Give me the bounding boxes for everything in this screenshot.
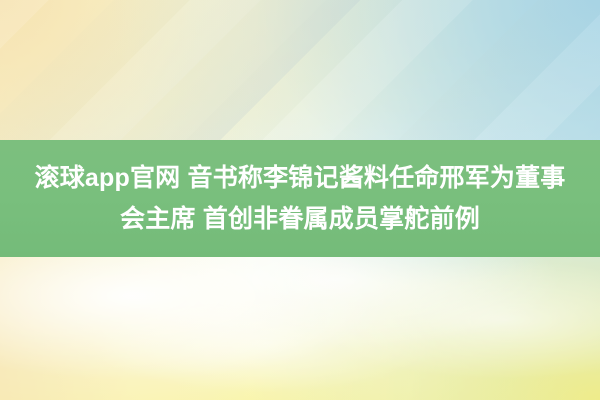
title-band: 滚球app官网 音书称李锦记酱料任命邢军为董事 会主席 首创非眷属成员掌舵前例 [0, 140, 600, 257]
banner-image: 滚球app官网 音书称李锦记酱料任命邢军为董事 会主席 首创非眷属成员掌舵前例 [0, 0, 600, 400]
background-diagonal-ray-edge [0, 0, 600, 150]
headline-line-2: 会主席 首创非眷属成员掌舵前例 [120, 199, 480, 240]
headline-line-1: 滚球app官网 音书称李锦记酱料任命邢军为董事 [35, 158, 566, 199]
